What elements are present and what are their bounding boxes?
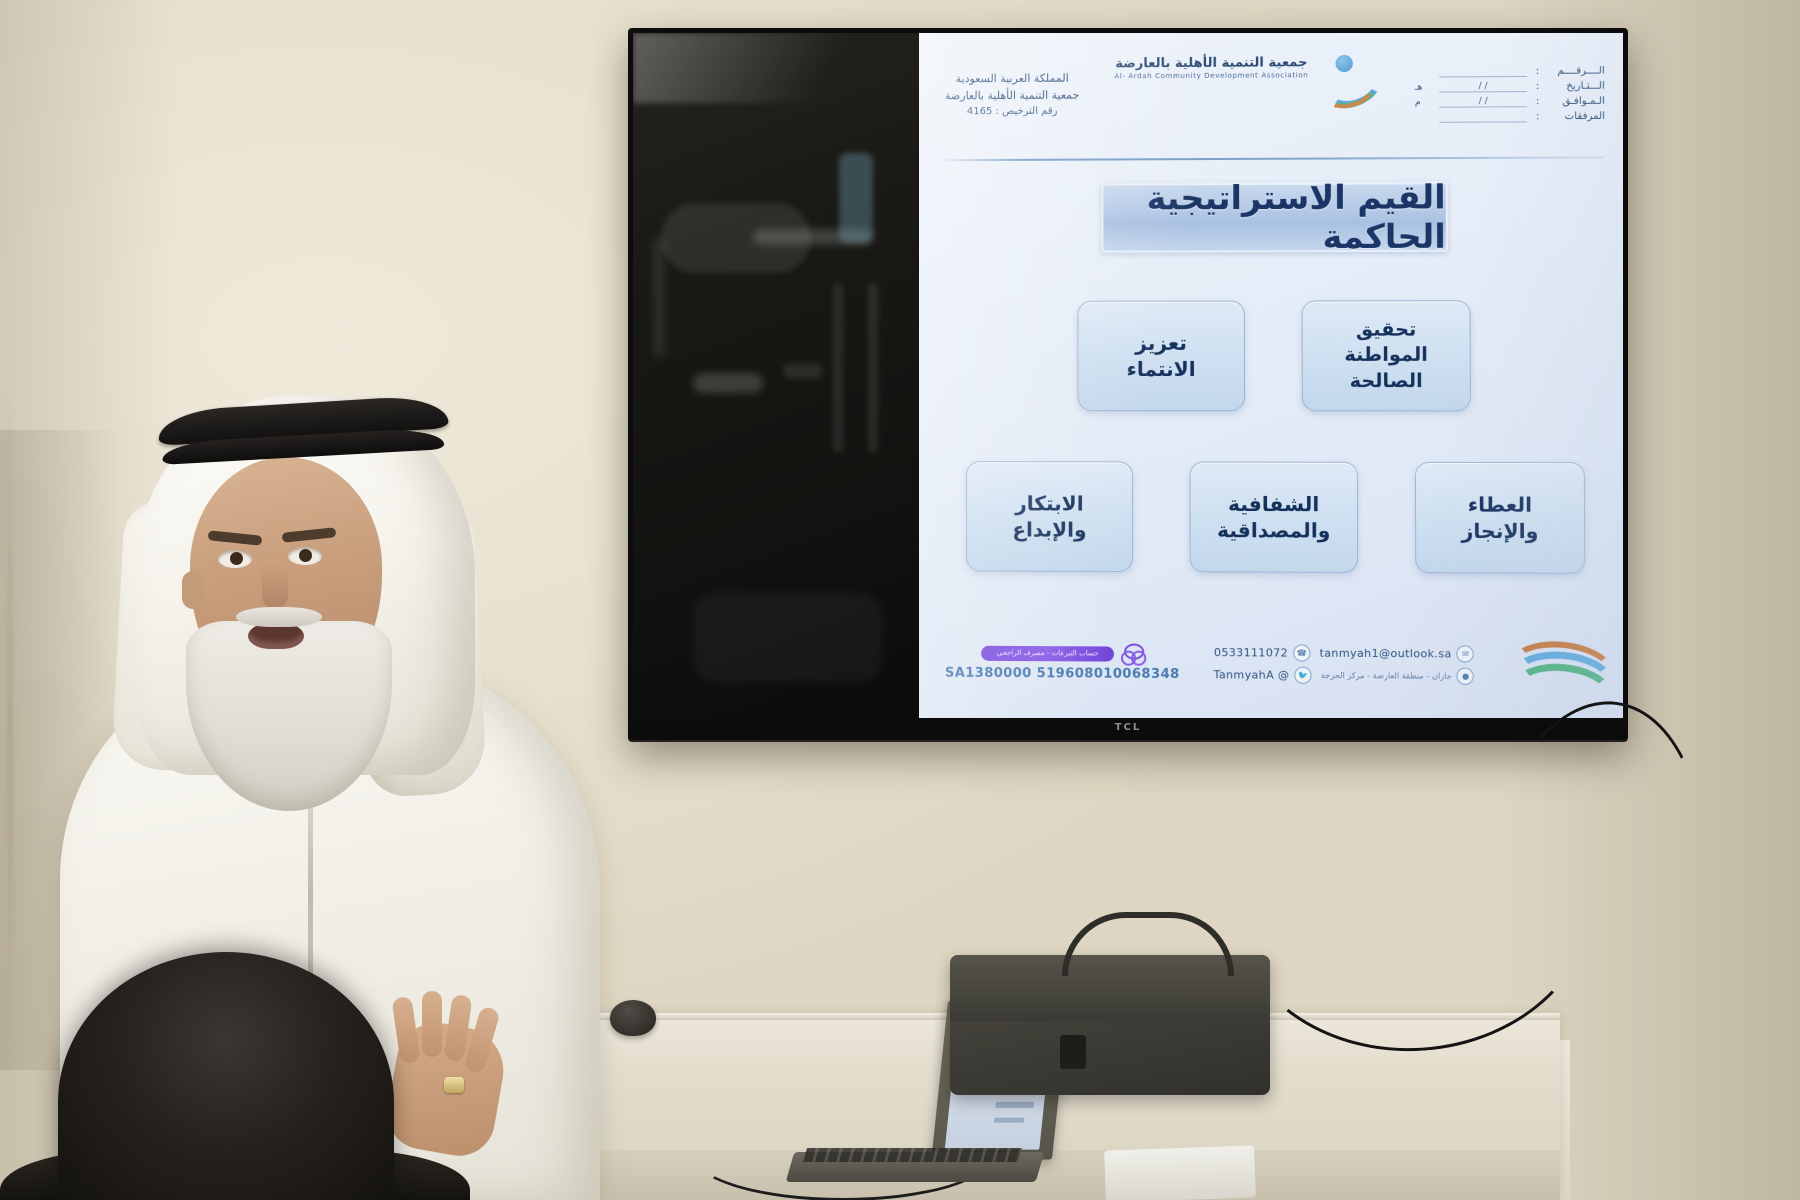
value-box-transparency: الشفافيةوالمصداقية	[1189, 462, 1358, 573]
contact-email-text: tanmyah1@outlook.sa	[1320, 646, 1452, 660]
kingdom-line-2: جمعية التنمية الأهلية بالعارضة	[945, 87, 1079, 104]
contact-line-1: ✉ tanmyah1@outlook.sa ☎ 0533111072	[1214, 643, 1475, 662]
contact-phone: ☎ 0533111072	[1214, 643, 1310, 661]
form-suffix-gregorian: م	[1415, 97, 1433, 107]
slide-header: الــــرقــــم : الـــتـاريخ : / / هـ	[919, 51, 1623, 151]
phone-icon: ☎	[1293, 644, 1310, 661]
tri-color-ribbon-icon	[1509, 639, 1608, 690]
finger	[422, 991, 442, 1057]
value-box-innovation-label: الابتكاروالإبداع	[1012, 490, 1086, 543]
tv-panel: الــــرقــــم : الـــتـاريخ : / / هـ	[633, 33, 1623, 718]
contact-address-text: جازان - منطقة العارضة - مركز الحرجة	[1321, 670, 1452, 680]
footer-contact-block: ✉ tanmyah1@outlook.sa ☎ 0533111072	[1214, 643, 1475, 684]
nose	[262, 563, 288, 609]
envelope-icon: ✉	[1457, 645, 1474, 662]
form-colon: :	[1533, 111, 1539, 122]
contact-phone-text: 0533111072	[1214, 646, 1288, 660]
header-divider	[945, 156, 1605, 161]
contact-address: ● جازان - منطقة العارضة - مركز الحرجة	[1321, 666, 1474, 684]
form-colon: :	[1533, 81, 1539, 92]
person-swoosh-logo-icon	[1318, 53, 1375, 102]
pupil-right	[299, 549, 312, 562]
pupil-left	[230, 552, 243, 565]
contact-twitter: 🐦 @ TanmyahA	[1214, 666, 1312, 684]
letterhead-form-block: الــــرقــــم : الـــتـاريخ : / / هـ	[1411, 51, 1605, 125]
form-row: الـــتـاريخ : / / هـ	[1411, 79, 1605, 95]
value-box-giving-label: العطاءوالإنجاز	[1461, 491, 1538, 545]
alrajhi-bank-icon	[1121, 644, 1143, 664]
values-row-bottom: العطاءوالإنجاز الشفافيةوالمصداقية الابتك…	[919, 461, 1623, 574]
form-row: الـمـوافـق : / / م	[1411, 94, 1605, 110]
form-value-attachments	[1439, 111, 1527, 123]
contact-email: ✉ tanmyah1@outlook.sa	[1320, 644, 1475, 662]
kingdom-line-1: المملكة العربية السعودية	[945, 71, 1079, 88]
bank-iban-text: SA1380000 519608010068348	[945, 666, 1180, 682]
value-box-belonging: تعزيزالانتماء	[1077, 301, 1245, 412]
form-value-number	[1439, 66, 1527, 78]
presentation-slide: الــــرقــــم : الـــتـاريخ : / / هـ	[919, 33, 1623, 718]
location-pin-icon: ●	[1457, 667, 1474, 684]
tv-brand-text: TCL	[1115, 722, 1142, 733]
value-box-transparency-label: الشفافيةوالمصداقية	[1217, 490, 1330, 544]
laptop-keyboard	[803, 1148, 1022, 1162]
org-name-english: Al- Ardah Community Development Associat…	[1114, 71, 1308, 81]
values-row-top: تحقيقالمواطنةالصالحة تعزيزالانتماء	[919, 300, 1623, 412]
footer-bank-block: حساب التبرعات - مصرف الراجحي SA1380000 5…	[945, 643, 1180, 683]
finger-ring	[444, 1077, 464, 1093]
value-box-citizenship: تحقيقالمواطنةالصالحة	[1302, 300, 1471, 411]
moustache	[236, 607, 322, 627]
form-label-date-gregorian: الـمـوافـق	[1545, 96, 1604, 107]
laptop-bag-buckle	[1060, 1035, 1086, 1069]
wall-tv: الــــرقــــم : الـــتـاريخ : / / هـ	[628, 28, 1628, 740]
bank-label-pill: حساب التبرعات - مصرف الراجحي	[981, 645, 1114, 661]
ear	[182, 571, 204, 609]
slide-footer: ✉ tanmyah1@outlook.sa ☎ 0533111072	[919, 630, 1623, 697]
form-label-attachments: المرفقات	[1546, 111, 1605, 122]
photo-scene: الــــرقــــم : الـــتـاريخ : / / هـ	[0, 0, 1800, 1200]
desk-papers	[1104, 1145, 1256, 1200]
org-name-arabic: جمعية التنمية الأهلية بالعارضة	[1114, 55, 1308, 72]
kingdom-header-block: المملكة العربية السعودية جمعية التنمية ا…	[945, 55, 1079, 120]
contact-twitter-text: @ TanmyahA	[1214, 668, 1290, 682]
form-row: الــــرقــــم :	[1411, 63, 1605, 79]
wall-vertical-seam	[8, 380, 12, 1080]
license-number: رقم الترخيص : 4165	[945, 104, 1079, 120]
form-value-date-gregorian: / /	[1439, 96, 1527, 108]
association-logo-block: جمعية التنمية الأهلية بالعارضة Al- Ardah…	[1114, 53, 1375, 103]
form-label-number: الــــرقــــم	[1545, 65, 1604, 76]
tv-dark-reflection-area	[633, 33, 919, 718]
value-box-belonging-label: تعزيزالانتماء	[1126, 329, 1195, 382]
tv-brand-badge: TCL	[628, 718, 1628, 736]
contact-line-2: ● جازان - منطقة العارضة - مركز الحرجة 🐦 …	[1214, 666, 1475, 685]
slide-title-text: القيم الاستراتيجية الحاكمة	[1103, 177, 1445, 256]
form-row: المرفقات :	[1411, 109, 1605, 125]
form-colon: :	[1533, 66, 1539, 77]
slide-title-banner: القيم الاستراتيجية الحاكمة	[1101, 181, 1448, 252]
value-box-citizenship-label: تحقيقالمواطنةالصالحة	[1344, 318, 1428, 394]
form-value-date-hijri: / /	[1439, 81, 1527, 93]
form-colon: :	[1533, 96, 1539, 107]
tv-glare	[633, 33, 933, 103]
value-box-innovation: الابتكاروالإبداع	[966, 461, 1133, 572]
twitter-bird-icon: 🐦	[1294, 666, 1311, 683]
bank-label-text: حساب التبرعات - مصرف الراجحي	[997, 649, 1099, 658]
form-label-date-hijri: الـــتـاريخ	[1545, 81, 1604, 92]
value-box-giving: العطاءوالإنجاز	[1415, 462, 1585, 574]
form-suffix-hijri: هـ	[1415, 82, 1433, 92]
